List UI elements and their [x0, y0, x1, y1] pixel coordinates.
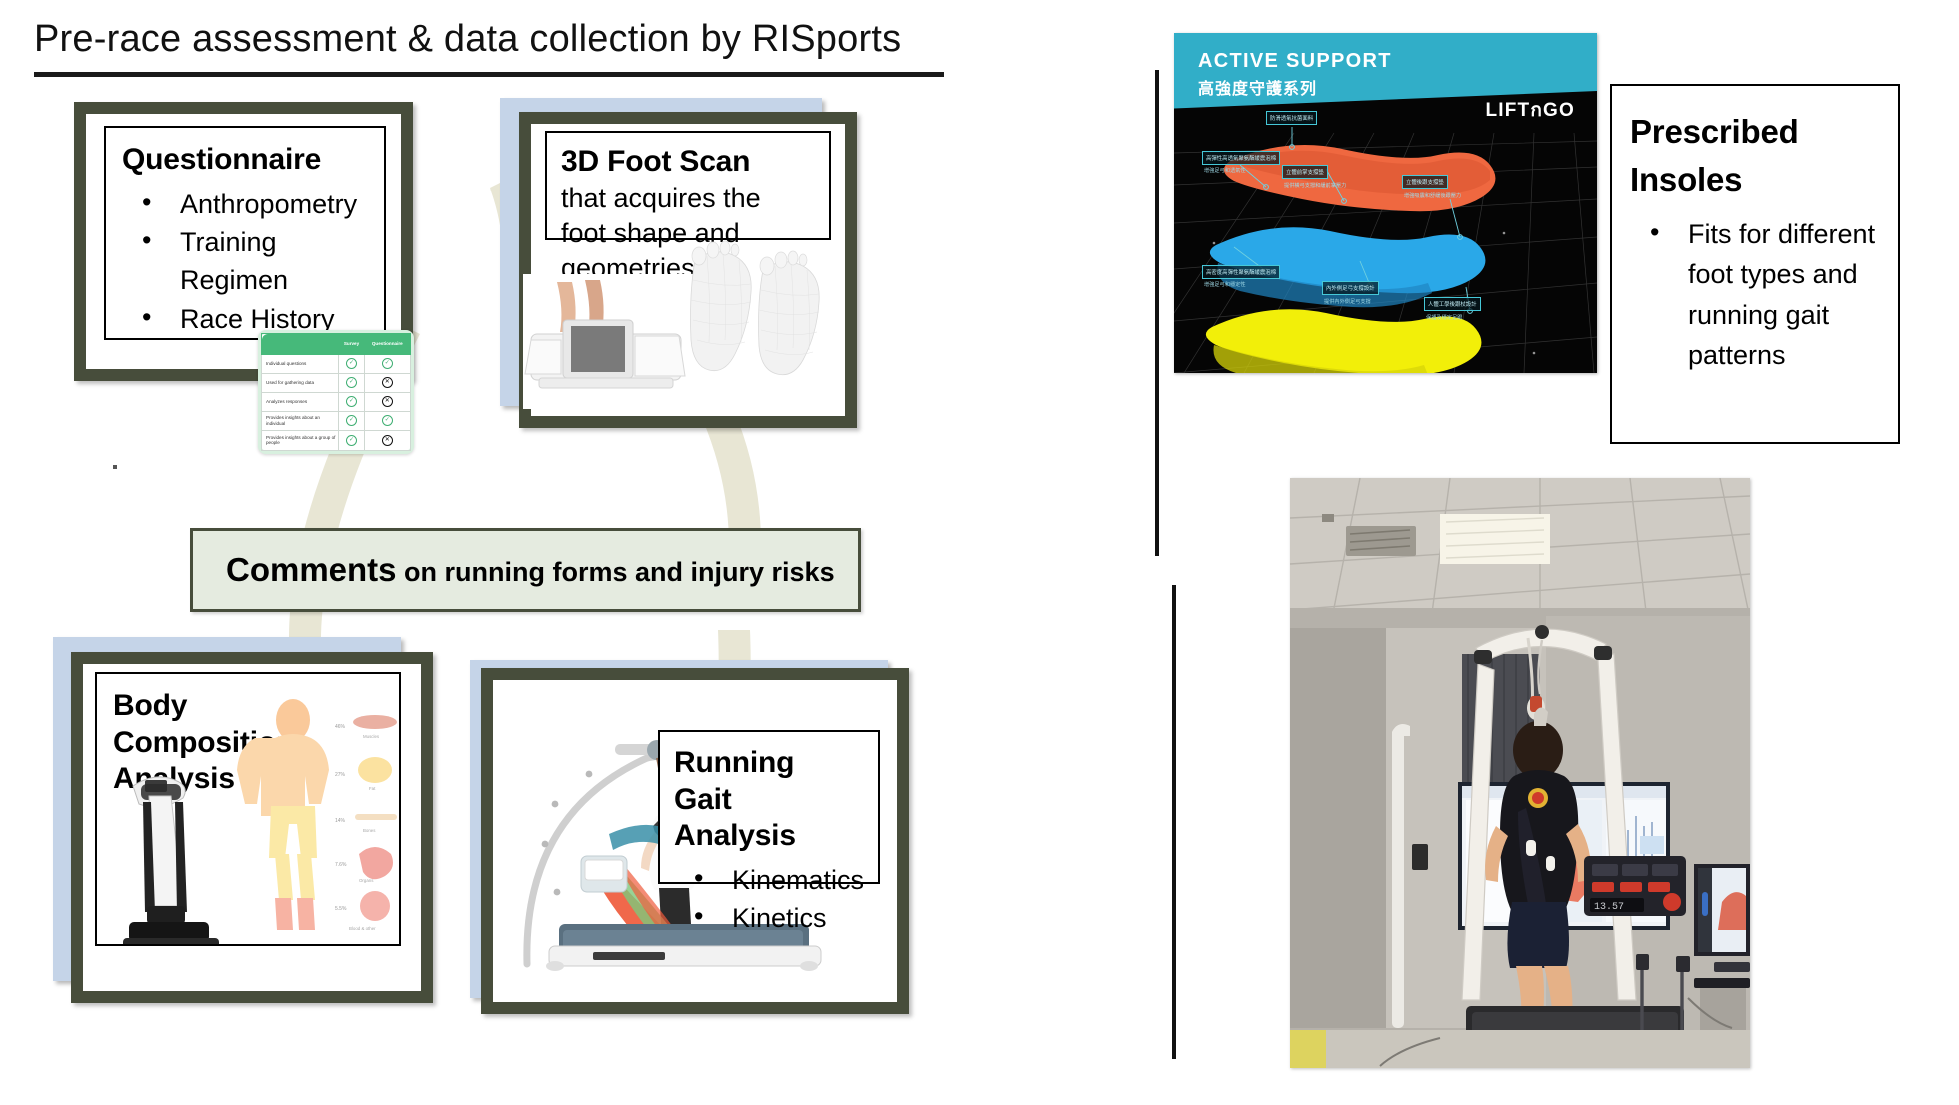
prescribed-insoles-card: Prescribed Insoles Fits for different fo…: [1610, 84, 1900, 444]
insole-annotation-tag: 高密度高彈性聚氨酯緩震泡棉: [1202, 265, 1280, 279]
card-footscan-frame: 3D Foot Scan that acquires the foot shap…: [519, 112, 857, 428]
table-cell-mark: ✓: [364, 411, 410, 430]
list-item: Fits for different foot types and runnin…: [1630, 214, 1882, 376]
page-header: Pre-race assessment & data collection by…: [34, 18, 974, 77]
list-item: Anthropometry: [122, 185, 384, 223]
prescribed-insoles-bullets: Fits for different foot types and runnin…: [1630, 214, 1882, 376]
insole-annotation-sub: 提供橫弓支撐和緩前掌壓力: [1284, 182, 1346, 189]
svg-text:27%: 27%: [335, 772, 346, 778]
stray-dot: [113, 465, 117, 469]
table-cell-label: Provides insights about an individual: [262, 411, 339, 430]
check-icon: ✓: [346, 435, 357, 446]
comments-strong-label: Comments: [226, 551, 397, 588]
card-gait-text: Running Gait Analysis Kinematics Kinetic…: [658, 730, 880, 884]
check-icon: ✓: [382, 415, 393, 426]
table-row: Used for gathering data✓✕: [262, 373, 411, 392]
survey-comparison-table: Survey Questionnaire Individual question…: [258, 330, 414, 454]
svg-text:Fat: Fat: [369, 786, 376, 791]
cross-icon: ✕: [382, 435, 393, 446]
list-item: Kinematics: [674, 861, 878, 899]
poster-title-en: ACTIVE SUPPORT: [1198, 50, 1392, 73]
comments-rest-label: on running forms and injury risks: [397, 557, 835, 587]
insole-annotation-tag: 防滑透氣抗菌面料: [1266, 111, 1317, 125]
table-row: Analyzes responses✓✕: [262, 392, 411, 411]
table-cell-label: Analyzes responses: [262, 392, 339, 411]
check-icon: ✓: [346, 358, 357, 369]
gait-heading: Running Gait Analysis: [674, 745, 854, 855]
card-questionnaire: Questionnaire Anthropometry Training Reg…: [104, 126, 386, 340]
gait-lab-photo-graphic: 13.57: [1290, 478, 1750, 1068]
table-cell-mark: ✓: [339, 392, 364, 411]
cross-icon: ✕: [382, 377, 393, 388]
table-cell-mark: ✓: [339, 354, 364, 373]
table-row: Provides insights about a group of peopl…: [262, 431, 411, 450]
insole-annotation-sub: 保護及穩定足跟: [1426, 314, 1462, 321]
check-icon: ✓: [346, 377, 357, 388]
insole-poster-image: ACTIVE SUPPORT 高強度守護系列 LIFTกGO: [1174, 33, 1597, 373]
questionnaire-bullets: Anthropometry Training Regimen Race Hist…: [122, 185, 384, 338]
card-gait-frame: Running Gait Analysis Kinematics Kinetic…: [481, 668, 909, 1014]
svg-text:7.6%: 7.6%: [335, 862, 347, 868]
table-body: Individual questions✓✓Used for gathering…: [262, 354, 411, 450]
card-bodycomp-frame: Body Composition Analysis 46%27% 14%7.6%…: [71, 652, 433, 1003]
insole-annotation-tag: 內外側足弓支撐設計: [1322, 281, 1379, 295]
gait-lab-photo: 13.57: [1290, 478, 1750, 1068]
card-footscan-text: 3D Foot Scan that acquires the foot shap…: [545, 131, 831, 240]
insole-annotation-tag: 人體工學後跟杖設計: [1424, 297, 1481, 311]
comments-banner: Comments on running forms and injury ris…: [190, 528, 861, 612]
insole-annotation-sub: 提供內外側足弓支撐: [1324, 298, 1371, 305]
table-row: Individual questions✓✓: [262, 354, 411, 373]
table-cell-mark: ✓: [339, 373, 364, 392]
prescribed-insoles-heading: Prescribed Insoles: [1630, 108, 1870, 204]
table-col-blank: [262, 334, 339, 355]
svg-text:5.5%: 5.5%: [335, 906, 347, 912]
table-cell-label: Provides insights about a group of peopl…: [262, 431, 339, 450]
check-icon: ✓: [346, 396, 357, 407]
questionnaire-heading: Questionnaire: [122, 142, 384, 179]
table-row: Provides insights about an individual✓✓: [262, 411, 411, 430]
insole-annotation-sub: 增強吸震和舒緩後跟壓力: [1404, 192, 1461, 199]
table-cell-label: Individual questions: [262, 354, 339, 373]
list-item: Training Regimen: [122, 223, 384, 300]
table-cell-mark: ✓: [339, 431, 364, 450]
body-composition-analyzer: [115, 766, 235, 946]
svg-text:Muscles: Muscles: [363, 734, 380, 739]
insole-annotation-tag: 高彈性高透氣聚氨酯緩震泡棉: [1202, 151, 1280, 165]
svg-text:Bones: Bones: [363, 828, 376, 833]
svg-text:Blood & other: Blood & other: [349, 926, 376, 931]
divider-lower: [1172, 585, 1176, 1059]
table-cell-mark: ✓: [364, 354, 410, 373]
cross-icon: ✕: [382, 396, 393, 407]
svg-text:13.57: 13.57: [1594, 902, 1624, 913]
check-icon: ✓: [346, 415, 357, 426]
scanned-foot-mesh-image: [671, 234, 851, 394]
table-cell-mark: ✓: [339, 411, 364, 430]
table-cell-mark: ✕: [364, 373, 410, 392]
table-cell-label: Used for gathering data: [262, 373, 339, 392]
card-bodycomp: Body Composition Analysis 46%27% 14%7.6%…: [95, 672, 401, 946]
title-underline: [34, 72, 944, 77]
svg-text:Organs: Organs: [359, 878, 374, 883]
insole-annotation-sub: 增強足弓和透氣性: [1204, 167, 1246, 174]
page-title: Pre-race assessment & data collection by…: [34, 18, 974, 62]
check-icon: ✓: [382, 358, 393, 369]
svg-text:46%: 46%: [335, 724, 346, 730]
table-cell-mark: ✕: [364, 392, 410, 411]
body-composition-infographic: 46%27% 14%7.6% 5.5% MusclesFat BonesOrga…: [237, 694, 401, 944]
poster-title-zh: 高強度守護系列: [1198, 75, 1317, 99]
gait-bullets: Kinematics Kinetics: [674, 861, 878, 938]
divider-upper: [1155, 70, 1159, 556]
insole-annotation-tag: 立體後跟支撐墊: [1402, 175, 1448, 189]
insole-annotation-tag: 立體前掌支撐墊: [1282, 165, 1328, 179]
svg-text:14%: 14%: [335, 818, 346, 824]
footscan-heading: 3D Foot Scan: [561, 144, 829, 181]
table-col-survey: Survey: [339, 334, 364, 355]
table-col-questionnaire: Questionnaire: [364, 334, 410, 355]
list-item: Kinetics: [674, 899, 878, 937]
insole-annotation-sub: 增強足弓和穩定性: [1204, 281, 1246, 288]
table-cell-mark: ✕: [364, 431, 410, 450]
